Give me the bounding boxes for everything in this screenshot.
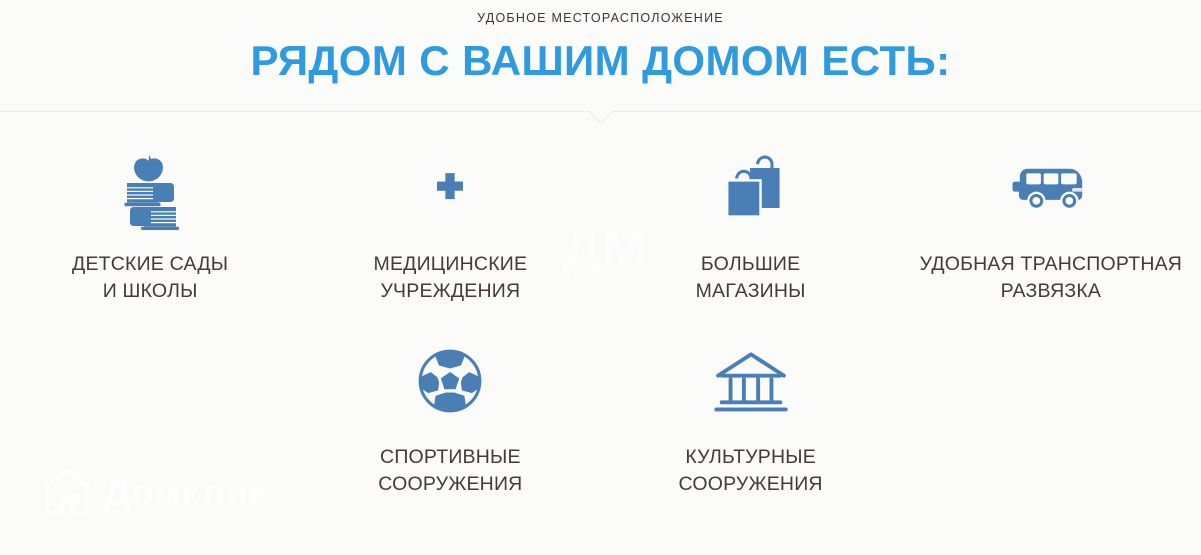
feature-item-kindergartens-schools[interactable]: ДЕТСКИЕ САДЫ И ШКОЛЫ (0, 148, 300, 305)
section-header: УДОБНОЕ МЕСТОРАСПОЛОЖЕНИЕ РЯДОМ С ВАШИМ … (0, 0, 1201, 83)
shopping-bags-icon (711, 148, 791, 228)
page-title: РЯДОМ С ВАШИМ ДОМОМ ЕСТЬ: (0, 39, 1201, 83)
page-root: { "header": { "eyebrow": "УДОБНОЕ МЕСТОР… (0, 0, 1201, 555)
books-apple-icon (108, 148, 192, 228)
feature-label: УДОБНАЯ ТРАНСПОРТНАЯ РАЗВЯЗКА (920, 251, 1182, 305)
museum-building-icon (711, 341, 791, 421)
feature-label: СПОРТИВНЫЕ СООРУЖЕНИЯ (378, 444, 522, 498)
eyebrow-text: УДОБНОЕ МЕСТОРАСПОЛОЖЕНИЕ (0, 11, 1201, 26)
feature-item-transport[interactable]: УДОБНАЯ ТРАНСПОРТНАЯ РАЗВЯЗКА (901, 148, 1201, 305)
medical-cross-circle-icon (411, 148, 489, 228)
feature-item-culture[interactable]: КУЛЬТУРНЫЕ СООРУЖЕНИЯ (601, 341, 901, 498)
feature-label: КУЛЬТУРНЫЕ СООРУЖЕНИЯ (679, 444, 823, 498)
feature-item-sports[interactable]: СПОРТИВНЫЕ СООРУЖЕНИЯ (300, 341, 600, 498)
feature-label: ДЕТСКИЕ САДЫ И ШКОЛЫ (72, 251, 228, 305)
bus-icon (1007, 148, 1095, 228)
feature-item-shops[interactable]: БОЛЬШИЕ МАГАЗИНЫ (601, 148, 901, 305)
feature-label: БОЛЬШИЕ МАГАЗИНЫ (696, 251, 806, 305)
soccer-ball-icon (412, 341, 488, 421)
chevron-down-icon (588, 111, 614, 124)
feature-label: МЕДИЦИНСКИЕ УЧРЕЖДЕНИЯ (374, 251, 528, 305)
features-grid: ДЕТСКИЕ САДЫ И ШКОЛЫ МЕДИЦИНСКИЕ УЧРЕЖДЕ… (0, 129, 1201, 498)
feature-item-medical[interactable]: МЕДИЦИНСКИЕ УЧРЕЖДЕНИЯ (300, 148, 600, 305)
section-divider (0, 111, 1201, 129)
grid-spacer (0, 305, 300, 498)
